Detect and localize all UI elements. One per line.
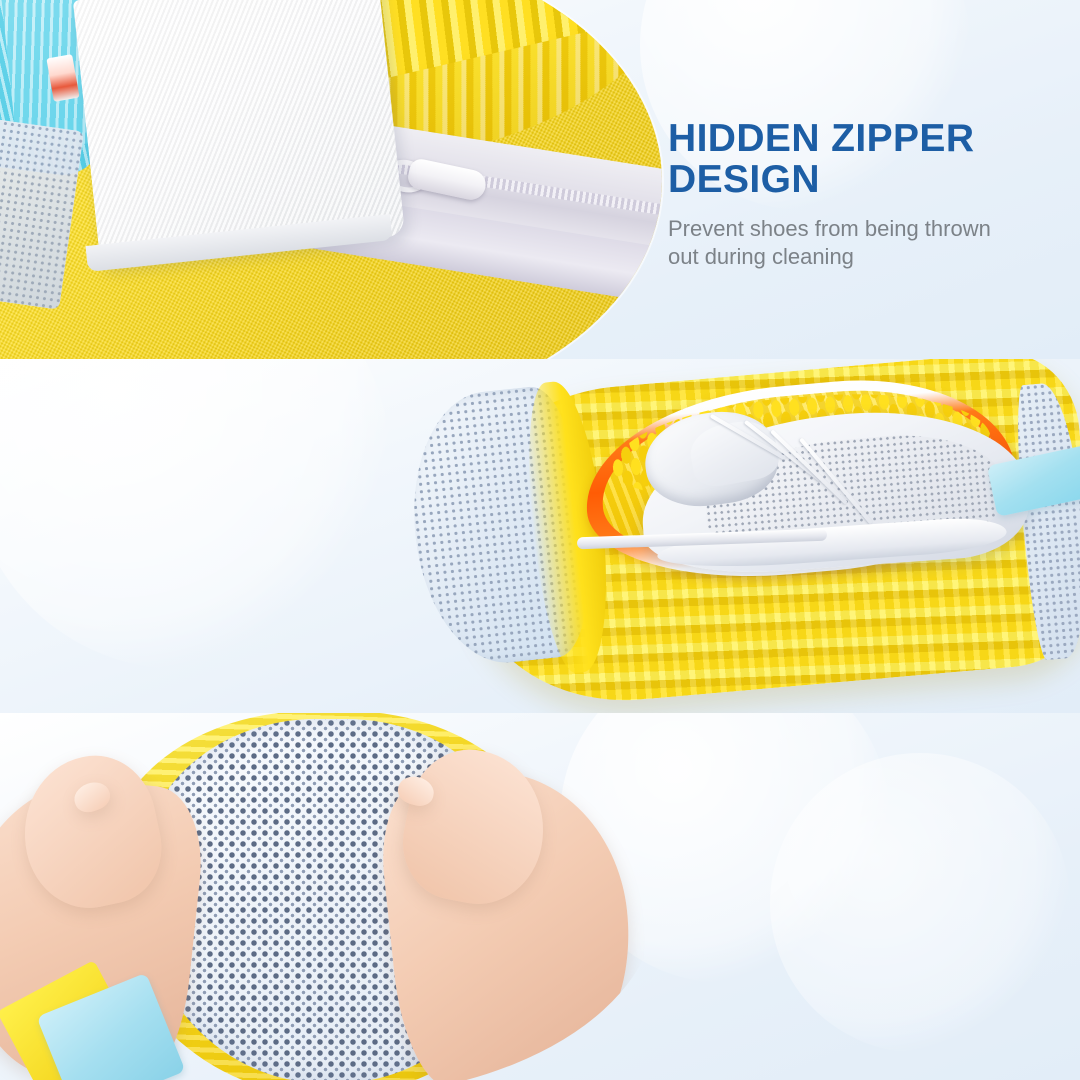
subtext-hidden-zipper: Prevent shoes from being thrown out duri…	[668, 215, 1068, 272]
panel-hidden-zipper: HIDDEN ZIPPER DESIGN Prevent shoes from …	[0, 0, 1080, 359]
product-infographic-poster: HIDDEN ZIPPER DESIGN Prevent shoes from …	[0, 0, 1080, 1080]
panel-side-zipper: SIDE ZIPPER Easier to put shoes into sho…	[0, 359, 1080, 713]
headline-hidden-zipper: HIDDEN ZIPPER DESIGN	[668, 118, 1068, 201]
text-block-hidden-zipper: HIDDEN ZIPPER DESIGN Prevent shoes from …	[668, 118, 1068, 272]
photo-high-permeability-mesh	[0, 713, 658, 1080]
panel-high-permeability-mesh: HIGH PERMEABILITY MESH Easier to filter …	[0, 713, 1080, 1080]
photo-hidden-zipper	[0, 0, 662, 359]
photo-side-zipper	[405, 359, 1080, 713]
